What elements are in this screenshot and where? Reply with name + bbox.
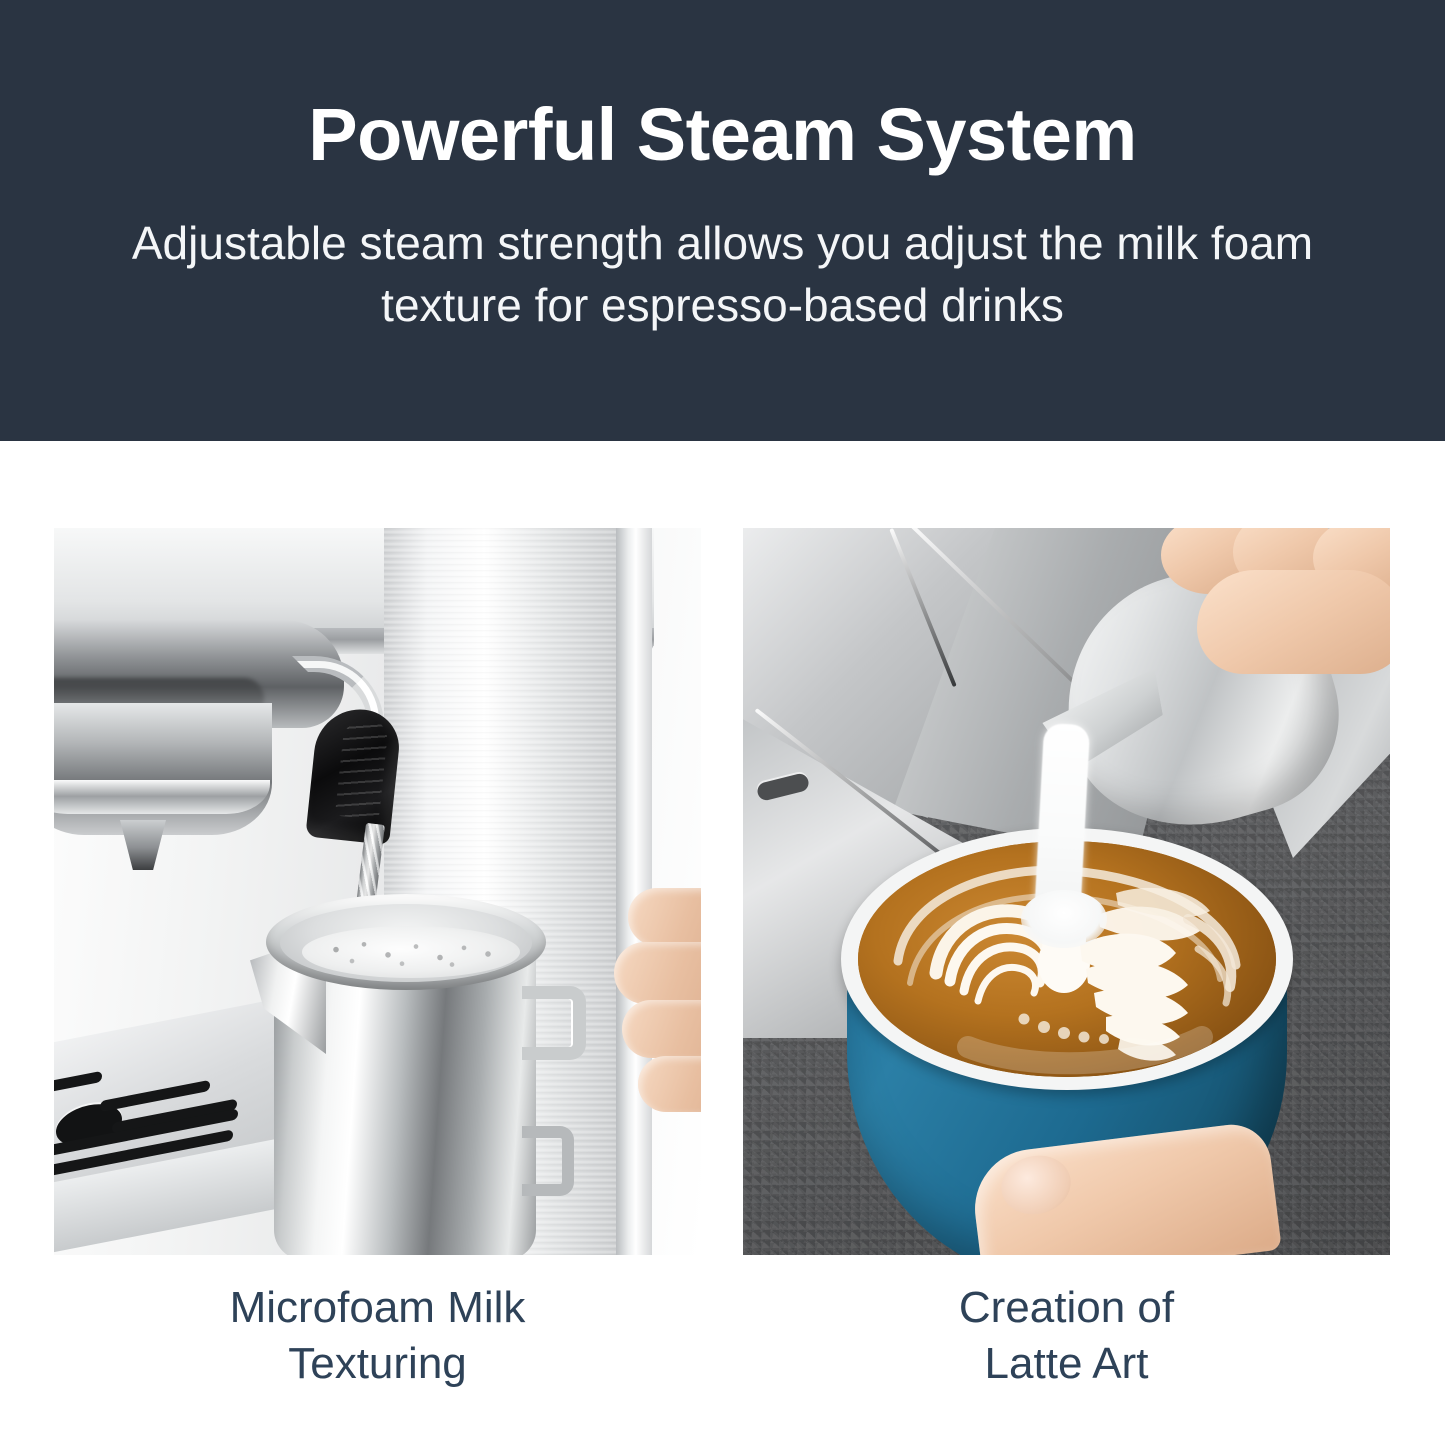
header-banner: Powerful Steam System Adjustable steam s… — [0, 0, 1445, 441]
portafilter-ring — [54, 780, 270, 814]
milk-pitcher — [250, 858, 560, 1255]
feature-photo-latte-art — [743, 528, 1390, 1255]
finger — [628, 888, 701, 946]
feature-photo-microfoam — [54, 528, 701, 1255]
caption-latte-art-line2: Latte Art — [985, 1339, 1149, 1388]
caption-latte-art-line1: Creation of — [959, 1283, 1174, 1332]
milk-pitcher-handle-top — [522, 986, 586, 1060]
hand-holding-pitcher — [610, 888, 701, 1138]
page-title: Powerful Steam System — [308, 96, 1136, 174]
caption-latte-art: Creation of Latte Art — [743, 1280, 1390, 1430]
portafilter — [54, 703, 272, 835]
finger — [622, 1000, 701, 1058]
finger — [614, 942, 701, 1004]
page-subtitle: Adjustable steam strength allows you adj… — [93, 212, 1353, 336]
hand-holding-cup — [975, 1128, 1305, 1255]
caption-row: Microfoam Milk Texturing Creation of Lat… — [54, 1280, 1390, 1430]
latte-art-photo — [743, 528, 1390, 1255]
espresso-machine-photo — [54, 528, 701, 1255]
palm — [1197, 570, 1390, 674]
milk-splash — [1021, 890, 1107, 948]
caption-microfoam: Microfoam Milk Texturing — [54, 1280, 701, 1430]
foam-bubbles — [312, 932, 512, 976]
milk-pitcher-handle-bottom — [522, 1126, 574, 1196]
caption-microfoam-line1: Microfoam Milk — [230, 1283, 526, 1332]
finger — [638, 1056, 701, 1112]
product-feature-page: Powerful Steam System Adjustable steam s… — [0, 0, 1445, 1445]
hand-holding-pouring-pitcher — [1161, 528, 1390, 696]
drip-slot — [54, 1071, 102, 1094]
feature-image-grid — [54, 528, 1390, 1255]
caption-microfoam-line2: Texturing — [288, 1339, 467, 1388]
portafilter-spout — [120, 820, 166, 870]
